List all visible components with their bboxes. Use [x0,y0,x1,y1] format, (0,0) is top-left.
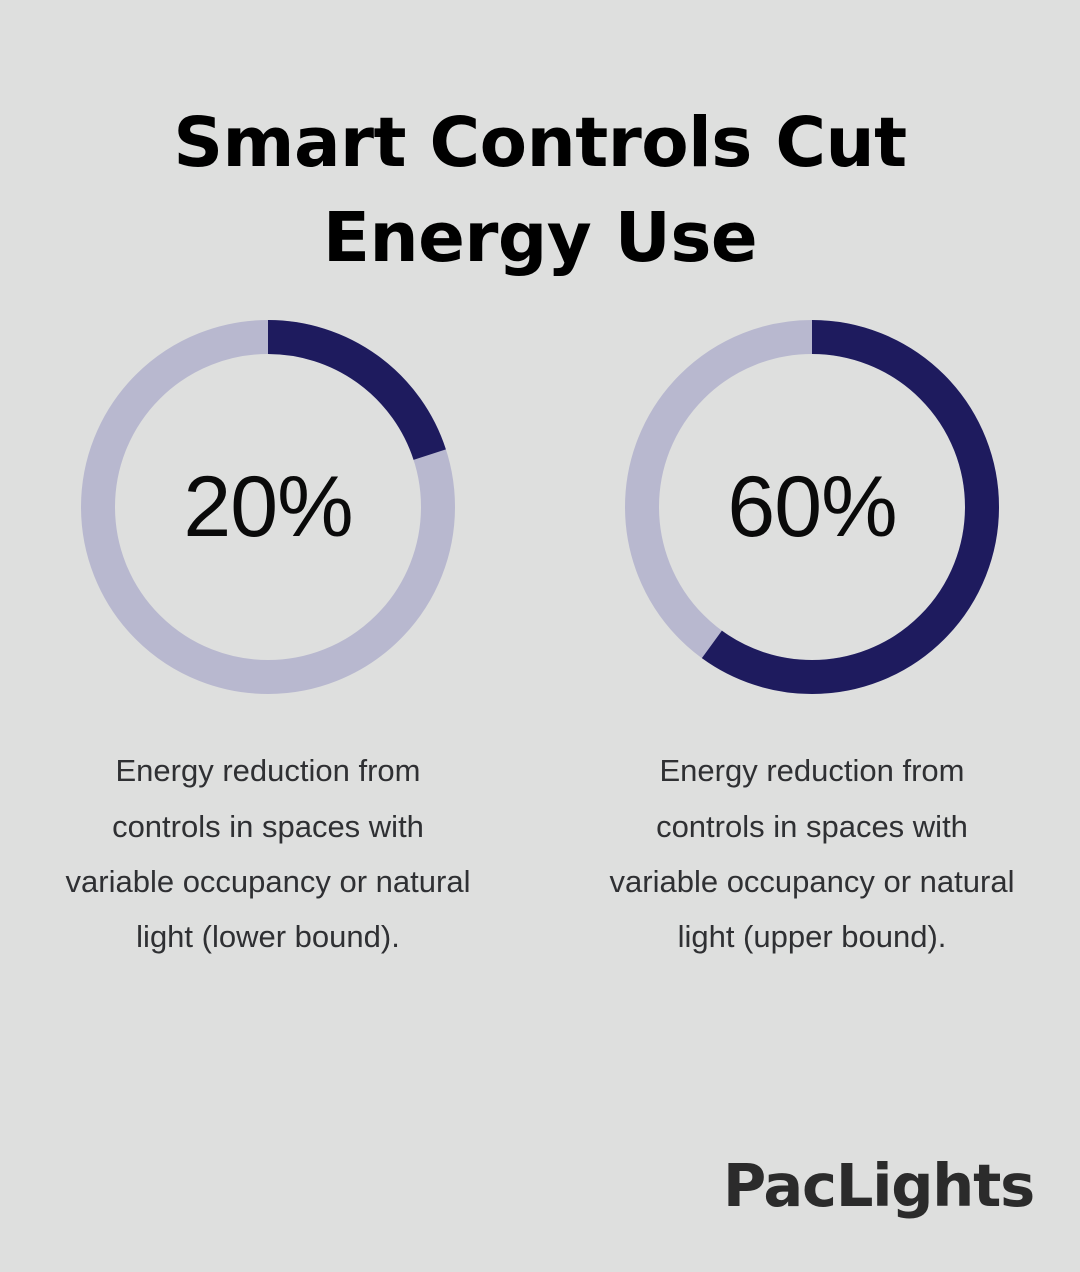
donut-value-upper-bound: 60% [625,320,999,694]
brand-logo-paclights: PacLights [723,1151,1034,1220]
infographic-root: Smart Controls Cut Energy Use 20% Energy… [0,0,1080,1272]
footer: PacLights [723,1151,1034,1220]
donut-chart-upper-bound: 60% [625,320,999,694]
chart-caption-lower-bound: Energy reduction from controls in spaces… [66,743,471,964]
donut-value-lower-bound: 20% [81,320,455,694]
chart-cell-upper-bound: 60% Energy reduction from controls in sp… [612,320,1012,995]
page-title: Smart Controls Cut Energy Use [60,96,1020,286]
title-block: Smart Controls Cut Energy Use [0,0,1080,286]
chart-caption-upper-bound: Energy reduction from controls in spaces… [610,743,1015,964]
charts-row: 20% Energy reduction from controls in sp… [0,320,1080,995]
donut-chart-lower-bound: 20% [81,320,455,694]
chart-cell-lower-bound: 20% Energy reduction from controls in sp… [68,320,468,995]
